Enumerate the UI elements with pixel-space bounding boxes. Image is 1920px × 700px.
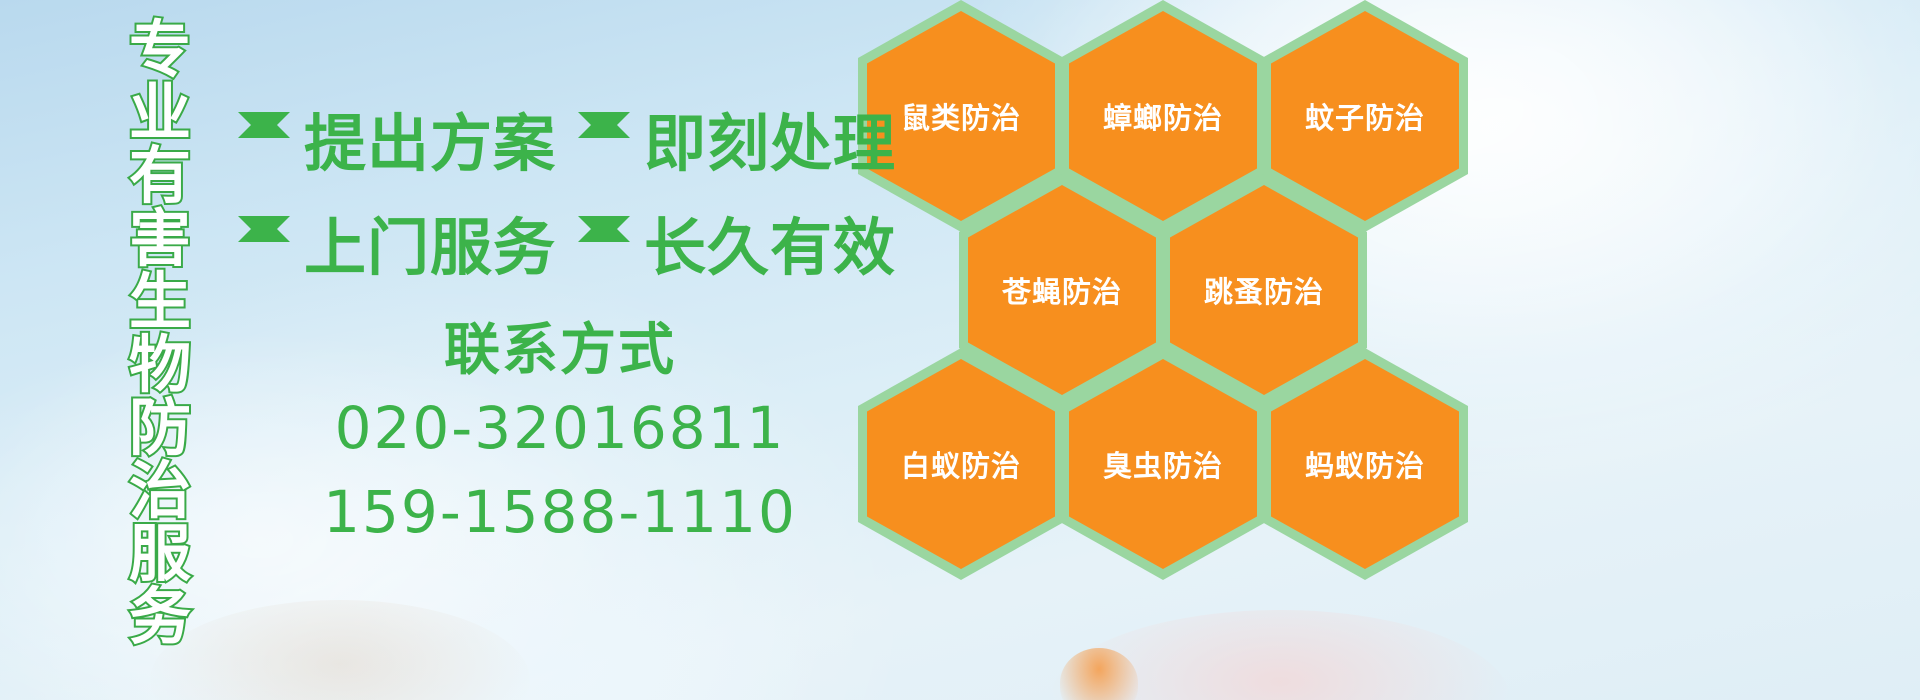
feature-label: 提出方案 — [304, 93, 556, 183]
vertical-slogan: 专 业 有 害 生 物 防 治 服 务 — [108, 18, 212, 648]
vertical-slogan-char: 物 — [129, 333, 191, 396]
phone-number-landline[interactable]: 020-32016811 — [300, 386, 820, 470]
feature-row: 提出方案 即刻处理 — [238, 86, 896, 190]
hex-cell-termite[interactable]: 白蚁防治 — [858, 348, 1064, 580]
promo-banner: 专 业 有 害 生 物 防 治 服 务 提出方案 即刻处理 上门服务 — [0, 0, 1920, 700]
diamond-bullet-icon — [238, 112, 290, 164]
hex-label: 蚊子防治 — [1305, 95, 1425, 137]
contact-block: 联系方式 020-32016811 159-1588-1110 — [300, 316, 820, 554]
diamond-bullet-icon — [578, 216, 630, 268]
hex-cell-ant[interactable]: 蚂蚁防治 — [1262, 348, 1468, 580]
hex-label: 蚂蚁防治 — [1305, 443, 1425, 485]
vertical-slogan-char: 业 — [129, 81, 191, 144]
phone-number-mobile[interactable]: 159-1588-1110 — [300, 470, 820, 554]
hex-label: 苍蝇防治 — [1002, 269, 1122, 311]
hex-cell-bedbug[interactable]: 臭虫防治 — [1060, 348, 1266, 580]
vertical-slogan-char: 服 — [129, 522, 191, 585]
feature-item: 长久有效 — [578, 197, 896, 287]
feature-list: 提出方案 即刻处理 上门服务 长久有效 — [238, 86, 896, 294]
diamond-bullet-icon — [238, 216, 290, 268]
contact-title: 联系方式 — [300, 316, 820, 386]
hex-label: 白蚁防治 — [901, 443, 1021, 485]
hex-label: 鼠类防治 — [901, 95, 1021, 137]
service-honeycomb: 鼠类防治 蟑螂防治 蚊子防治 苍蝇防治 跳蚤防治 白蚁防治 — [858, 0, 1478, 588]
feature-label: 即刻处理 — [644, 93, 896, 183]
vertical-slogan-char: 务 — [129, 585, 191, 648]
vertical-slogan-char: 害 — [129, 207, 191, 270]
feature-label: 长久有效 — [644, 197, 896, 287]
feature-row: 上门服务 长久有效 — [238, 190, 896, 294]
feature-item: 提出方案 — [238, 93, 556, 183]
feature-item: 上门服务 — [238, 197, 556, 287]
vertical-slogan-char: 治 — [129, 459, 191, 522]
hex-label: 蟑螂防治 — [1103, 95, 1223, 137]
vertical-slogan-char: 生 — [129, 270, 191, 333]
hex-label: 跳蚤防治 — [1204, 269, 1324, 311]
feature-label: 上门服务 — [304, 197, 556, 287]
vertical-slogan-char: 防 — [129, 396, 191, 459]
hex-label: 臭虫防治 — [1103, 443, 1223, 485]
feature-item: 即刻处理 — [578, 93, 896, 183]
vertical-slogan-char: 专 — [129, 18, 191, 81]
vertical-slogan-char: 有 — [129, 144, 191, 207]
diamond-bullet-icon — [578, 112, 630, 164]
